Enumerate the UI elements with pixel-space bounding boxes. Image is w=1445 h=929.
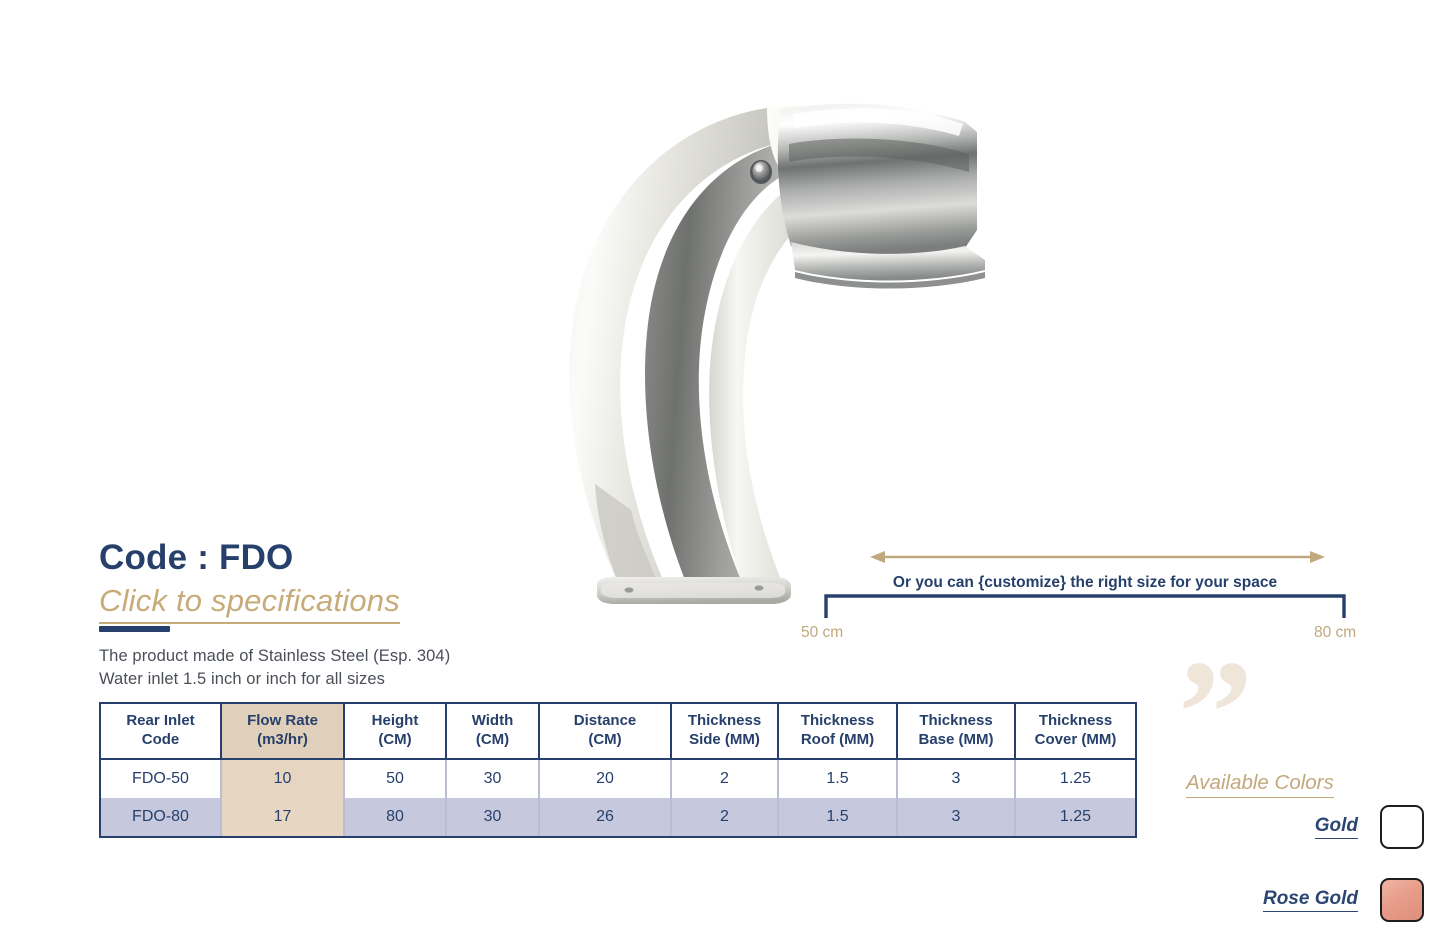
color-option-rose-gold[interactable]: Rose Gold [1196,878,1424,922]
cell-flow-rate: 17 [222,798,345,836]
table-header-row: Rear Inlet Code Flow Rate (m3/hr) Height… [101,704,1135,760]
header-line-1: Flow Rate [222,712,343,731]
cell-thickness-side: 2 [672,760,779,798]
color-swatch-rose-gold[interactable] [1380,878,1424,922]
quote-mark-icon: ” [1178,655,1253,772]
header-line-1: Thickness [779,712,896,731]
spec-sheet-page: Code : FDO Click to specifications The p… [0,0,1445,929]
cell-rear-inlet-code: FDO-50 [101,760,222,798]
header-line-2: (m3/hr) [222,731,343,750]
color-option-gold[interactable]: Gold [1196,805,1424,849]
specifications-link[interactable]: Click to specifications [99,583,400,624]
table-row: FDO-50 10 50 30 20 2 1.5 3 1.25 [101,760,1135,798]
header-line-1: Width [447,712,538,731]
cell-thickness-roof: 1.5 [779,760,898,798]
cell-thickness-side: 2 [672,798,779,836]
column-header-thickness-roof: Thickness Roof (MM) [779,704,898,760]
cell-distance: 20 [540,760,672,798]
color-option-label: Rose Gold [1263,888,1358,912]
description-line-2: Water inlet 1.5 inch or inch for all siz… [99,668,619,691]
cell-width: 30 [447,760,540,798]
dimension-callout: Or you can {customize} the right size fo… [820,548,1350,648]
column-header-thickness-base: Thickness Base (MM) [898,704,1016,760]
cell-height: 80 [345,798,447,836]
header-line-1: Thickness [1016,712,1135,731]
title-accent-bar [99,626,170,632]
column-header-thickness-side: Thickness Side (MM) [672,704,779,760]
double-arrow-icon [870,548,1325,566]
cell-rear-inlet-code: FDO-80 [101,798,222,836]
header-line-2: (CM) [345,731,445,750]
header-line-2: Cover (MM) [1016,731,1135,750]
cell-thickness-base: 3 [898,798,1016,836]
column-header-thickness-cover: Thickness Cover (MM) [1016,704,1135,760]
column-header-height: Height (CM) [345,704,447,760]
header-line-1: Height [345,712,445,731]
cell-distance: 26 [540,798,672,836]
color-swatch-gold[interactable] [1380,805,1424,849]
header-line-1: Rear Inlet [101,712,220,731]
cell-thickness-roof: 1.5 [779,798,898,836]
page-title: Code : FDO [99,538,293,578]
product-description: The product made of Stainless Steel (Esp… [99,645,619,692]
customize-caption: Or you can {customize} the right size fo… [820,574,1350,592]
header-line-1: Distance [540,712,670,731]
description-line-1: The product made of Stainless Steel (Esp… [99,645,619,668]
header-line-2: Side (MM) [672,731,777,750]
cell-thickness-cover: 1.25 [1016,760,1135,798]
header-line-2: Code [101,731,220,750]
column-header-width: Width (CM) [447,704,540,760]
dimension-max-label: 80 cm [1314,624,1356,642]
header-line-1: Thickness [898,712,1014,731]
cell-thickness-base: 3 [898,760,1016,798]
cell-height: 50 [345,760,447,798]
waterfall-spout-illustration [545,80,1005,620]
range-bracket-icon [820,594,1350,620]
header-line-1: Thickness [672,712,777,731]
cell-width: 30 [447,798,540,836]
cell-thickness-cover: 1.25 [1016,798,1135,836]
specifications-table: Rear Inlet Code Flow Rate (m3/hr) Height… [99,702,1137,838]
specifications-table-container: Rear Inlet Code Flow Rate (m3/hr) Height… [99,702,1133,838]
header-line-2: (CM) [447,731,538,750]
product-image [545,80,1005,620]
available-colors-title: Available Colors [1186,771,1334,798]
column-header-distance: Distance (CM) [540,704,672,760]
column-header-rear-inlet-code: Rear Inlet Code [101,704,222,760]
header-line-2: Base (MM) [898,731,1014,750]
color-option-label: Gold [1315,815,1358,839]
table-row: FDO-80 17 80 30 26 2 1.5 3 1.25 [101,798,1135,836]
dimension-min-label: 50 cm [801,624,843,642]
header-line-2: (CM) [540,731,670,750]
cell-flow-rate: 10 [222,760,345,798]
column-header-flow-rate: Flow Rate (m3/hr) [222,704,345,760]
header-line-2: Roof (MM) [779,731,896,750]
